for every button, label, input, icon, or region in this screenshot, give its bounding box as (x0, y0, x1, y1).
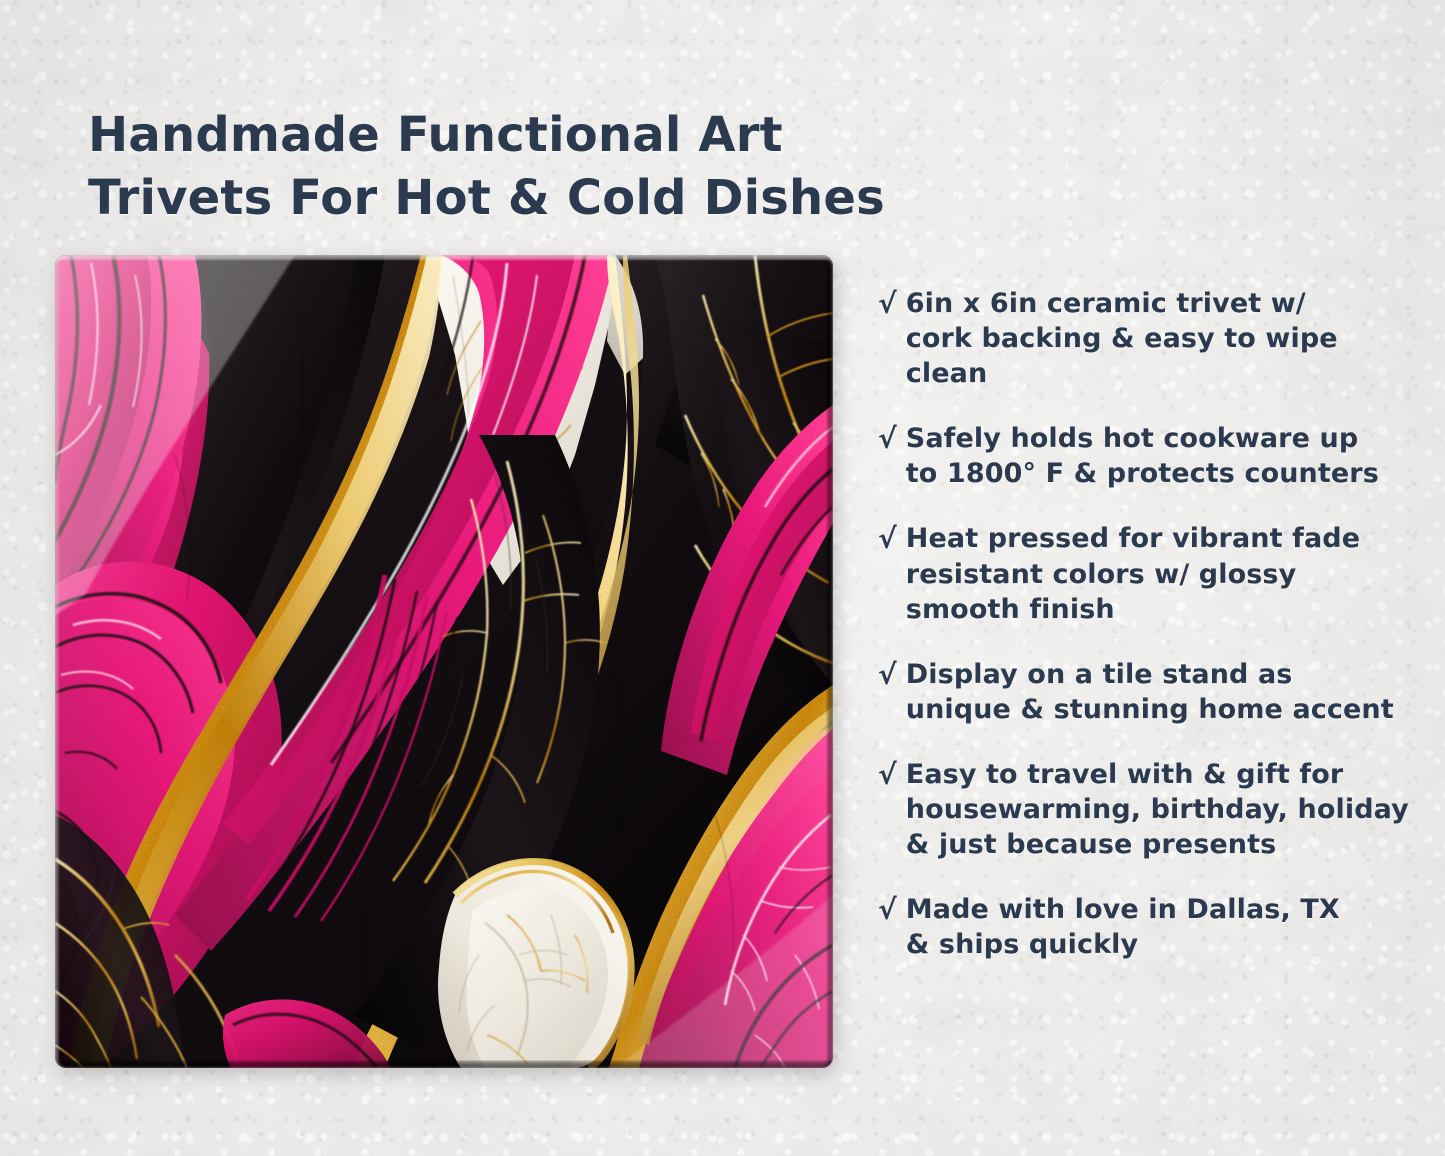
marble-trivet-tile (55, 255, 833, 1068)
list-item-text: Safely holds hot cookware up to 1800° F … (906, 421, 1398, 491)
list-item-text: Made with love in Dallas, TX & ships qui… (906, 892, 1398, 962)
list-item-line: cork backing & easy to wipe (906, 321, 1398, 356)
list-item-line: clean (906, 356, 1398, 391)
list-item: √ Display on a tile stand as unique & st… (878, 657, 1398, 727)
check-icon: √ (878, 286, 897, 321)
list-item-text: Easy to travel with & gift for housewarm… (906, 757, 1409, 862)
page-title: Handmade Functional Art Trivets For Hot … (88, 104, 888, 231)
list-item-line: Safely holds hot cookware up (906, 421, 1398, 456)
list-item-text: Display on a tile stand as unique & stun… (906, 657, 1398, 727)
product-image[interactable] (55, 255, 833, 1068)
list-item-line: to 1800° F & protects counters (906, 456, 1398, 491)
page-title-line-1: Handmade Functional Art (88, 104, 888, 167)
list-item-line: & just because presents (906, 827, 1409, 862)
list-item-line: Easy to travel with & gift for (906, 757, 1409, 792)
check-icon: √ (878, 521, 897, 556)
list-item-text: 6in x 6in ceramic trivet w/ cork backing… (906, 286, 1398, 391)
feature-list: √ 6in x 6in ceramic trivet w/ cork backi… (878, 286, 1398, 962)
list-item: √ Easy to travel with & gift for housewa… (878, 757, 1398, 862)
list-item-line: Heat pressed for vibrant fade (906, 521, 1398, 556)
list-item-line: & ships quickly (906, 927, 1398, 962)
list-item-line: housewarming, birthday, holiday (906, 792, 1409, 827)
marble-artwork-svg (55, 255, 833, 1068)
check-icon: √ (878, 892, 897, 927)
check-icon: √ (878, 421, 897, 456)
list-item-line: Display on a tile stand as (906, 657, 1398, 692)
list-item: √ 6in x 6in ceramic trivet w/ cork backi… (878, 286, 1398, 391)
list-item: √ Safely holds hot cookware up to 1800° … (878, 421, 1398, 491)
list-item: √ Heat pressed for vibrant fade resistan… (878, 521, 1398, 626)
check-icon: √ (878, 657, 897, 692)
list-item-line: smooth finish (906, 592, 1398, 627)
list-item-line: Made with love in Dallas, TX (906, 892, 1398, 927)
page-title-line-2: Trivets For Hot & Cold Dishes (88, 167, 888, 230)
list-item-line: resistant colors w/ glossy (906, 557, 1398, 592)
product-listing-canvas: Handmade Functional Art Trivets For Hot … (0, 0, 1445, 1156)
list-item: √ Made with love in Dallas, TX & ships q… (878, 892, 1398, 962)
list-item-text: Heat pressed for vibrant fade resistant … (906, 521, 1398, 626)
check-icon: √ (878, 757, 897, 792)
list-item-line: 6in x 6in ceramic trivet w/ (906, 286, 1398, 321)
list-item-line: unique & stunning home accent (906, 692, 1398, 727)
